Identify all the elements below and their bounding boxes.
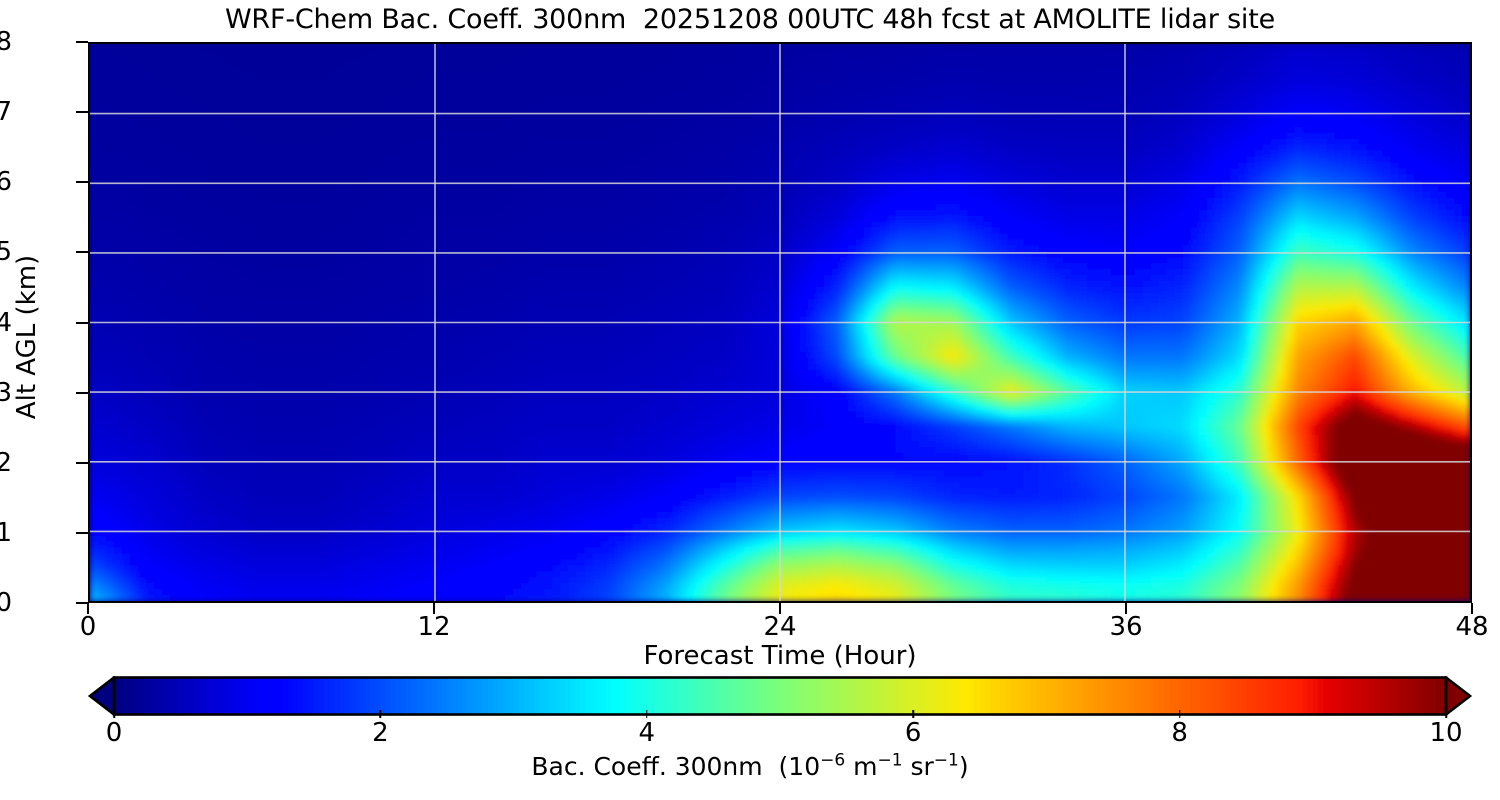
colorbar-tick-mark <box>380 710 382 718</box>
y-tick-label: 2 <box>0 448 12 478</box>
x-tick-label: 24 <box>763 612 796 642</box>
colorbar-tick-mark <box>1179 710 1181 718</box>
y-tick-mark <box>76 322 88 324</box>
y-tick-label: 7 <box>0 97 12 127</box>
colorbar-label-exp3: −1 <box>934 751 959 771</box>
colorbar-tick-label: 6 <box>905 718 922 748</box>
x-tick-label: 12 <box>417 612 450 642</box>
x-tick-label: 48 <box>1455 612 1488 642</box>
y-axis-label: Alt AGL (km) <box>12 57 42 617</box>
colorbar-tick-mark <box>1445 710 1447 718</box>
colorbar-tick-mark <box>113 710 115 718</box>
colorbar-label-exp2: −1 <box>877 751 902 771</box>
colorbar-label-exp1: −6 <box>820 751 845 771</box>
colorbar-label-close: ) <box>959 752 969 781</box>
figure-canvas: WRF-Chem Bac. Coeff. 300nm 20251208 00UT… <box>0 0 1500 800</box>
colorbar-tick-mark <box>646 710 648 718</box>
colorbar-tick-label: 4 <box>639 718 656 748</box>
y-tick-mark <box>76 111 88 113</box>
colorbar-label: Bac. Coeff. 300nm (10−6 m−1 sr−1) <box>0 752 1500 781</box>
y-tick-mark <box>76 41 88 43</box>
colorbar-gradient <box>88 676 1472 716</box>
colorbar[interactable] <box>88 676 1472 716</box>
x-tick-mark <box>779 603 781 614</box>
colorbar-tick-label: 8 <box>1171 718 1188 748</box>
colorbar-tick-label: 2 <box>372 718 389 748</box>
y-tick-label: 1 <box>0 518 12 548</box>
colorbar-label-mid2: sr <box>903 752 934 781</box>
y-tick-label: 5 <box>0 237 12 267</box>
y-tick-mark <box>76 532 88 534</box>
y-tick-mark <box>76 462 88 464</box>
x-tick-label: 0 <box>80 612 97 642</box>
x-tick-mark <box>433 603 435 614</box>
y-tick-mark <box>76 251 88 253</box>
x-tick-mark <box>87 603 89 614</box>
heatmap-plot-area <box>88 42 1472 603</box>
y-tick-label: 3 <box>0 378 12 408</box>
y-tick-label: 8 <box>0 27 12 57</box>
figure-title: WRF-Chem Bac. Coeff. 300nm 20251208 00UT… <box>0 4 1500 35</box>
colorbar-tick-label: 10 <box>1429 718 1462 748</box>
y-tick-label: 0 <box>0 588 12 618</box>
x-axis-label: Forecast Time (Hour) <box>88 641 1472 671</box>
colorbar-label-open: (10 <box>763 752 820 781</box>
contour-field <box>90 44 1470 601</box>
colorbar-tick-mark <box>912 710 914 718</box>
x-tick-mark <box>1125 603 1127 614</box>
y-tick-mark <box>76 181 88 183</box>
x-tick-label: 36 <box>1109 612 1142 642</box>
x-tick-mark <box>1471 603 1473 614</box>
colorbar-label-quantity: Bac. Coeff. 300nm <box>531 752 762 781</box>
y-tick-label: 6 <box>0 167 12 197</box>
colorbar-label-mid: m <box>845 752 877 781</box>
y-tick-mark <box>76 392 88 394</box>
y-tick-label: 4 <box>0 308 12 338</box>
colorbar-tick-label: 0 <box>106 718 123 748</box>
